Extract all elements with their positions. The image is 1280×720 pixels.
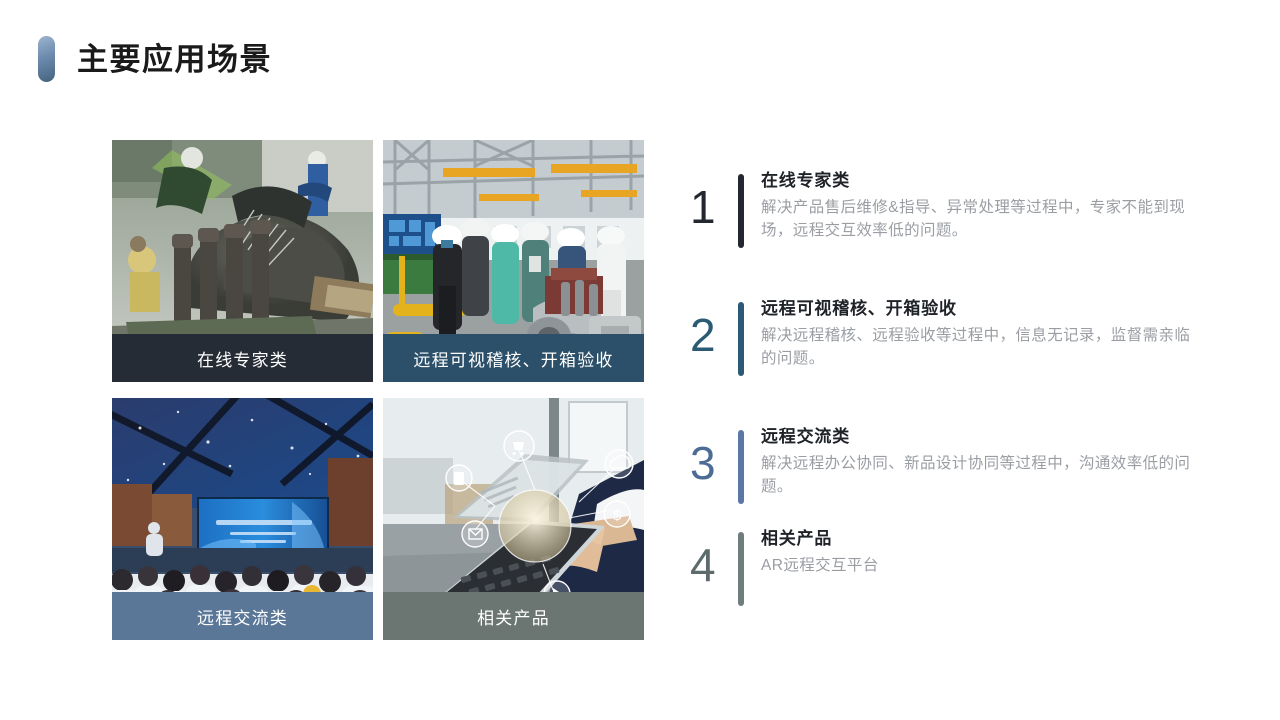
list-item[interactable]: 3 远程交流类 解决远程办公协同、新品设计协同等过程中，沟通效率低的问题。 [690, 426, 1191, 504]
list-item-title: 远程交流类 [761, 426, 1191, 449]
list-item-text: 相关产品 AR远程交互平台 [761, 528, 879, 577]
svg-text:$: $ [613, 507, 622, 524]
slide-root: 主要应用场景 [0, 0, 1280, 720]
gallery-tile-0[interactable]: 在线专家类 [112, 140, 373, 382]
list-item-title: 相关产品 [761, 528, 879, 551]
gallery-tile-caption: 远程可视稽核、开箱验收 [383, 334, 644, 382]
list-item-text: 远程可视稽核、开箱验收 解决远程稽核、远程验收等过程中，信息无记录，监督需亲临的… [761, 298, 1191, 370]
gallery-tile-2[interactable]: 远程交流类 [112, 398, 373, 640]
list-item-number: 2 [690, 298, 738, 358]
list-item-number: 4 [690, 528, 738, 588]
list-item-accent-bar [738, 430, 744, 504]
list-item[interactable]: 4 相关产品 AR远程交互平台 [690, 528, 879, 606]
gallery-tile-3[interactable]: $ 相关产品 [383, 398, 644, 640]
list-item-title: 在线专家类 [761, 170, 1191, 193]
list-item-text: 在线专家类 解决产品售后维修&指导、异常处理等过程中，专家不能到现场，远程交互效… [761, 170, 1191, 242]
list-item-number: 1 [690, 170, 738, 230]
list-item-description: 解决产品售后维修&指导、异常处理等过程中，专家不能到现场，远程交互效率低的问题。 [761, 196, 1191, 243]
gallery-tile-caption: 相关产品 [383, 592, 644, 640]
list-item-number: 3 [690, 426, 738, 486]
list-item-title: 远程可视稽核、开箱验收 [761, 298, 1191, 321]
gallery-tile-caption: 远程交流类 [112, 592, 373, 640]
list-item-accent-bar [738, 302, 744, 376]
list-item-text: 远程交流类 解决远程办公协同、新品设计协同等过程中，沟通效率低的问题。 [761, 426, 1191, 498]
gallery-tile-1[interactable]: 远程可视稽核、开箱验收 [383, 140, 644, 382]
slide-header: 主要应用场景 [38, 36, 272, 82]
page-title: 主要应用场景 [77, 44, 272, 75]
list-item-accent-bar [738, 532, 744, 606]
list-item-description: 解决远程办公协同、新品设计协同等过程中，沟通效率低的问题。 [761, 452, 1191, 499]
gallery-tile-caption: 在线专家类 [112, 334, 373, 382]
list-item[interactable]: 2 远程可视稽核、开箱验收 解决远程稽核、远程验收等过程中，信息无记录，监督需亲… [690, 298, 1191, 376]
image-gallery: 在线专家类 [112, 140, 645, 640]
list-item-description: 解决远程稽核、远程验收等过程中，信息无记录，监督需亲临的问题。 [761, 324, 1191, 371]
list-item-description: AR远程交互平台 [761, 554, 879, 577]
list-item[interactable]: 1 在线专家类 解决产品售后维修&指导、异常处理等过程中，专家不能到现场，远程交… [690, 170, 1191, 248]
list-item-accent-bar [738, 174, 744, 248]
pill-bullet-icon [38, 36, 55, 82]
